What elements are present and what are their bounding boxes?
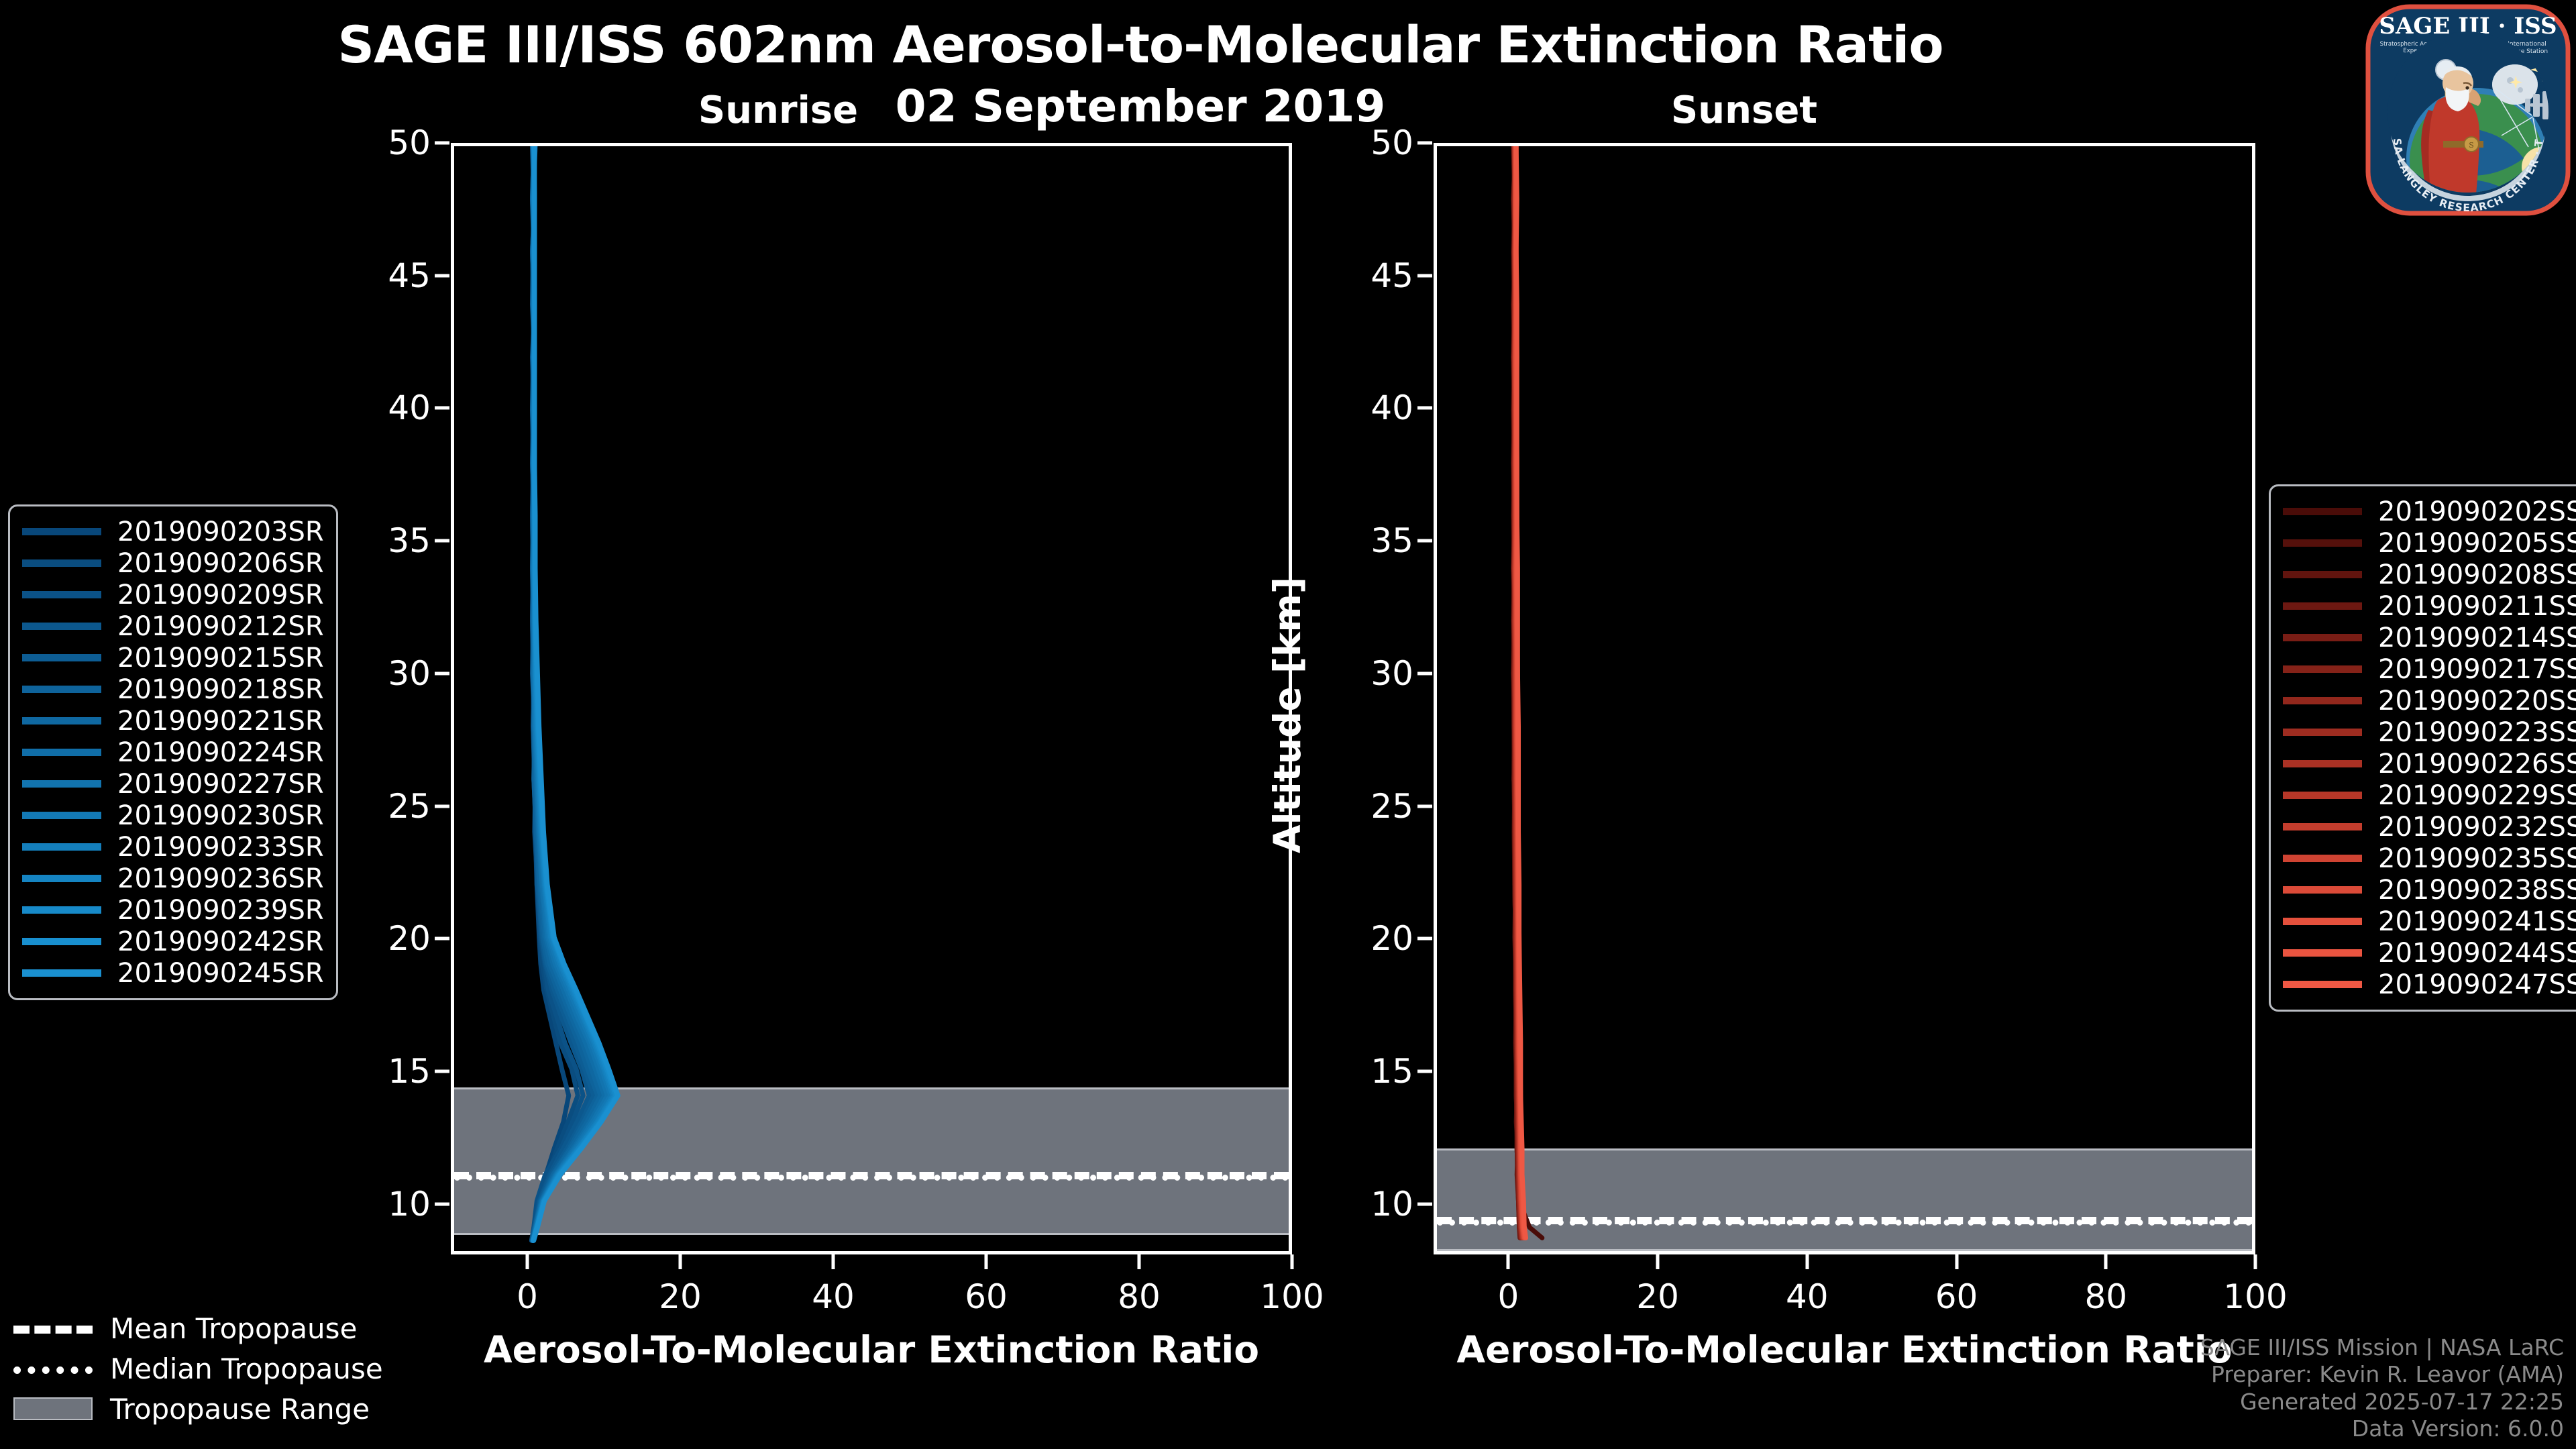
legend-color-swatch (22, 559, 101, 567)
sunrise-legend-item[interactable]: 2019090224SR (22, 737, 324, 768)
legend-item-label: 2019090206SR (117, 548, 324, 579)
footer-mission: SAGE III/ISS Mission | NASA LaRC (2200, 1334, 2564, 1361)
legend-color-swatch (2283, 918, 2362, 925)
sunset-legend-item[interactable]: 2019090214SS (2283, 622, 2576, 653)
y-tick-mark-sunset-10 (1417, 1202, 1432, 1205)
x-tick-mark-sunrise-40 (832, 1254, 835, 1269)
footer-attribution: SAGE III/ISS Mission | NASA LaRC Prepare… (2200, 1334, 2564, 1442)
sunset-legend-item[interactable]: 2019090202SS (2283, 496, 2576, 527)
legend-color-swatch (2283, 729, 2362, 736)
y-tick-mark-sunrise-50 (435, 142, 449, 145)
y-tick-mark-sunset-45 (1417, 274, 1432, 277)
y-tick-mark-sunrise-25 (435, 804, 449, 808)
sunrise-legend-item[interactable]: 2019090239SR (22, 894, 324, 926)
legend-color-swatch (22, 749, 101, 756)
sunrise-legend-item[interactable]: 2019090203SR (22, 516, 324, 547)
x-tick-label-sunset-20: 20 (1597, 1277, 1718, 1316)
sunset-legend-item[interactable]: 2019090205SS (2283, 527, 2576, 559)
legend-color-swatch (22, 780, 101, 788)
legend-item-label: 2019090230SR (117, 800, 324, 831)
y-tick-label-sunset-25: 25 (1313, 787, 1413, 826)
y-tick-label-sunset-50: 50 (1313, 123, 1413, 162)
x-tick-label-sunset-60: 60 (1896, 1277, 2017, 1316)
x-tick-mark-sunset-20 (1656, 1254, 1660, 1269)
sunrise-legend-item[interactable]: 2019090245SR (22, 957, 324, 989)
x-tick-label-sunrise-0: 0 (467, 1277, 588, 1316)
legend-item-label: 2019090208SS (2378, 559, 2576, 590)
median-tropopause-swatch (13, 1361, 93, 1376)
legend-item-label: 2019090224SR (117, 737, 324, 768)
legend-color-swatch (2283, 855, 2362, 862)
x-tick-mark-sunrise-20 (679, 1254, 682, 1269)
legend-color-swatch (2283, 634, 2362, 641)
y-tick-label-sunrise-10: 10 (330, 1185, 431, 1224)
sunset-series-lines (1437, 146, 2252, 1251)
y-tick-mark-sunset-35 (1417, 539, 1432, 543)
sunset-legend-item[interactable]: 2019090244SS (2283, 937, 2576, 969)
legend-item-label: 2019090214SS (2378, 623, 2576, 653)
svg-text:S: S (2469, 141, 2474, 150)
sunset-panel-title: Sunset (1603, 89, 1885, 132)
legend-item-label: 2019090247SS (2378, 969, 2576, 1000)
sunrise-x-axis-title: Aerosol-To-Molecular Extinction Ratio (451, 1328, 1292, 1371)
y-tick-mark-sunrise-30 (435, 672, 449, 675)
sunrise-plot-area (451, 143, 1292, 1254)
legend-item-label: 2019090203SR (117, 517, 324, 547)
legend-color-swatch (2283, 539, 2362, 547)
legend-color-swatch (22, 528, 101, 535)
series-line (532, 146, 589, 1240)
legend-color-swatch (2283, 792, 2362, 799)
sunset-legend-item[interactable]: 2019090220SS (2283, 685, 2576, 716)
legend-item-label: 2019090215SR (117, 643, 324, 674)
sunset-y-axis-title: Altitude [km] (1266, 577, 1309, 853)
sunset-legend[interactable]: 2019090202SS2019090205SS2019090208SS2019… (2269, 484, 2576, 1012)
x-tick-mark-sunset-100 (2254, 1254, 2257, 1269)
x-tick-label-sunset-80: 80 (2045, 1277, 2166, 1316)
range-tropopause-label: Tropopause Range (110, 1393, 370, 1426)
legend-color-swatch (22, 843, 101, 851)
legend-item-label: 2019090218SR (117, 674, 324, 705)
y-tick-mark-sunrise-35 (435, 539, 449, 543)
y-tick-mark-sunrise-20 (435, 937, 449, 941)
y-tick-label-sunset-35: 35 (1313, 521, 1413, 560)
x-tick-mark-sunset-40 (1805, 1254, 1809, 1269)
y-tick-mark-sunset-50 (1417, 142, 1432, 145)
tropopause-key-range: Tropopause Range (13, 1389, 383, 1429)
legend-color-swatch (22, 591, 101, 598)
x-tick-label-sunrise-20: 20 (620, 1277, 741, 1316)
legend-color-swatch (22, 654, 101, 661)
mean-tropopause-label: Mean Tropopause (110, 1312, 357, 1345)
legend-item-label: 2019090226SS (2378, 749, 2576, 780)
x-tick-label-sunset-0: 0 (1448, 1277, 1568, 1316)
y-tick-mark-sunset-40 (1417, 407, 1432, 410)
sunset-legend-item[interactable]: 2019090232SS (2283, 811, 2576, 843)
legend-color-swatch (2283, 886, 2362, 894)
y-tick-label-sunrise-15: 15 (330, 1052, 431, 1091)
legend-color-swatch (22, 938, 101, 945)
legend-color-swatch (22, 717, 101, 724)
legend-item-label: 2019090227SR (117, 769, 324, 800)
legend-color-swatch (22, 623, 101, 630)
legend-item-label: 2019090244SS (2378, 938, 2576, 969)
y-tick-mark-sunrise-45 (435, 274, 449, 277)
sunset-legend-item[interactable]: 2019090226SS (2283, 748, 2576, 780)
y-tick-mark-sunrise-40 (435, 407, 449, 410)
legend-color-swatch (22, 812, 101, 819)
legend-color-swatch (2283, 949, 2362, 957)
legend-item-label: 2019090212SR (117, 611, 324, 642)
x-tick-label-sunrise-100: 100 (1232, 1277, 1352, 1316)
chart-canvas: SAGE III/ISS 602nm Aerosol-to-Molecular … (0, 0, 2576, 1449)
y-tick-label-sunrise-45: 45 (330, 256, 431, 295)
sunrise-legend-item[interactable]: 2019090233SR (22, 831, 324, 863)
sunrise-legend-item[interactable]: 2019090227SR (22, 768, 324, 800)
sunset-legend-item[interactable]: 2019090217SS (2283, 653, 2576, 685)
legend-color-swatch (2283, 571, 2362, 578)
legend-color-swatch (22, 906, 101, 914)
legend-item-label: 2019090245SR (117, 958, 324, 989)
range-tropopause-swatch (13, 1397, 93, 1420)
sunset-legend-item[interactable]: 2019090241SS (2283, 906, 2576, 937)
legend-color-swatch (22, 875, 101, 882)
legend-item-label: 2019090220SS (2378, 686, 2576, 716)
x-tick-label-sunset-40: 40 (1747, 1277, 1868, 1316)
legend-color-swatch (22, 969, 101, 977)
sunrise-legend-item[interactable]: 2019090236SR (22, 863, 324, 894)
y-tick-label-sunrise-30: 30 (330, 654, 431, 693)
legend-item-label: 2019090236SR (117, 863, 324, 894)
tropopause-key-mean: Mean Tropopause (13, 1308, 383, 1348)
sunset-x-axis-title: Aerosol-To-Molecular Extinction Ratio (1434, 1328, 2255, 1371)
y-tick-mark-sunset-15 (1417, 1070, 1432, 1073)
sunrise-legend-item[interactable]: 2019090221SR (22, 705, 324, 737)
sunset-legend-item[interactable]: 2019090208SS (2283, 559, 2576, 590)
x-tick-mark-sunrise-60 (985, 1254, 988, 1269)
legend-color-swatch (22, 686, 101, 693)
x-tick-mark-sunset-60 (1955, 1254, 1958, 1269)
tropopause-key-median: Median Tropopause (13, 1348, 383, 1389)
footer-preparer: Preparer: Kevin R. Leavor (AMA) (2200, 1361, 2564, 1388)
sunrise-legend-item[interactable]: 2019090218SR (22, 674, 324, 705)
sunset-legend-item[interactable]: 2019090211SS (2283, 590, 2576, 622)
x-tick-label-sunrise-40: 40 (773, 1277, 894, 1316)
y-tick-label-sunrise-25: 25 (330, 787, 431, 826)
sunrise-legend[interactable]: 2019090203SR2019090206SR2019090209SR2019… (8, 504, 338, 1000)
legend-item-label: 2019090233SR (117, 832, 324, 863)
sunset-legend-item[interactable]: 2019090223SS (2283, 716, 2576, 748)
legend-item-label: 2019090229SS (2378, 780, 2576, 811)
y-tick-label-sunrise-50: 50 (330, 123, 431, 162)
legend-color-swatch (2283, 508, 2362, 515)
tropopause-legend: Mean TropopauseMedian TropopauseTropopau… (13, 1308, 383, 1429)
x-tick-mark-sunrise-80 (1138, 1254, 1141, 1269)
y-tick-label-sunset-20: 20 (1313, 919, 1413, 958)
legend-item-label: 2019090232SS (2378, 812, 2576, 843)
sunrise-legend-item[interactable]: 2019090242SR (22, 926, 324, 957)
x-tick-label-sunrise-80: 80 (1079, 1277, 1199, 1316)
sunrise-legend-item[interactable]: 2019090212SR (22, 610, 324, 642)
x-tick-label-sunset-100: 100 (2195, 1277, 2316, 1316)
y-tick-mark-sunrise-10 (435, 1202, 449, 1205)
y-tick-label-sunrise-40: 40 (330, 388, 431, 427)
legend-item-label: 2019090242SR (117, 926, 324, 957)
legend-item-label: 2019090205SS (2378, 528, 2576, 559)
y-tick-label-sunrise-35: 35 (330, 521, 431, 560)
legend-color-swatch (2283, 981, 2362, 988)
legend-item-label: 2019090217SS (2378, 654, 2576, 685)
x-tick-mark-sunset-80 (2104, 1254, 2108, 1269)
y-tick-mark-sunset-30 (1417, 672, 1432, 675)
legend-item-label: 2019090209SR (117, 580, 324, 610)
legend-color-swatch (2283, 665, 2362, 673)
y-tick-label-sunrise-20: 20 (330, 919, 431, 958)
sunset-legend-item[interactable]: 2019090229SS (2283, 780, 2576, 811)
legend-item-label: 2019090239SR (117, 895, 324, 926)
sunrise-legend-item[interactable]: 2019090209SR (22, 579, 324, 610)
sunrise-legend-item[interactable]: 2019090215SR (22, 642, 324, 674)
y-tick-label-sunset-30: 30 (1313, 654, 1413, 693)
legend-item-label: 2019090221SR (117, 706, 324, 737)
median-tropopause-label: Median Tropopause (110, 1352, 383, 1385)
sunset-plot-area (1434, 143, 2255, 1254)
legend-item-label: 2019090241SS (2378, 906, 2576, 937)
footer-generated: Generated 2025-07-17 22:25 (2200, 1389, 2564, 1415)
legend-color-swatch (2283, 697, 2362, 704)
legend-item-label: 2019090202SS (2378, 496, 2576, 527)
y-tick-label-sunset-45: 45 (1313, 256, 1413, 295)
legend-item-label: 2019090235SS (2378, 843, 2576, 874)
sunrise-series-lines (454, 146, 1289, 1251)
x-tick-mark-sunset-0 (1507, 1254, 1510, 1269)
legend-color-swatch (2283, 823, 2362, 830)
legend-item-label: 2019090238SS (2378, 875, 2576, 906)
footer-data-version: Data Version: 6.0.0 (2200, 1415, 2564, 1442)
y-tick-mark-sunset-25 (1417, 804, 1432, 808)
legend-color-swatch (2283, 760, 2362, 767)
legend-item-label: 2019090211SS (2378, 591, 2576, 622)
y-tick-label-sunset-40: 40 (1313, 388, 1413, 427)
sunrise-legend-item[interactable]: 2019090206SR (22, 547, 324, 579)
x-tick-label-sunrise-60: 60 (926, 1277, 1046, 1316)
sunset-legend-item[interactable]: 2019090235SS (2283, 843, 2576, 874)
mean-tropopause-swatch (13, 1321, 93, 1336)
sunrise-legend-item[interactable]: 2019090230SR (22, 800, 324, 831)
legend-color-swatch (2283, 602, 2362, 610)
y-tick-label-sunset-10: 10 (1313, 1185, 1413, 1224)
sunrise-panel-title: Sunrise (637, 89, 919, 132)
x-tick-mark-sunrise-0 (526, 1254, 529, 1269)
sage-iii-iss-mission-patch-icon: SAGE III · ISS Stratospheric Aerosol and… (2364, 3, 2572, 217)
x-tick-mark-sunrise-100 (1291, 1254, 1294, 1269)
sunset-legend-item[interactable]: 2019090238SS (2283, 874, 2576, 906)
sunset-legend-item[interactable]: 2019090247SS (2283, 969, 2576, 1000)
y-tick-label-sunset-15: 15 (1313, 1052, 1413, 1091)
page-title: SAGE III/ISS 602nm Aerosol-to-Molecular … (0, 15, 2281, 74)
y-tick-mark-sunset-20 (1417, 937, 1432, 941)
y-tick-mark-sunrise-15 (435, 1070, 449, 1073)
legend-item-label: 2019090223SS (2378, 717, 2576, 748)
